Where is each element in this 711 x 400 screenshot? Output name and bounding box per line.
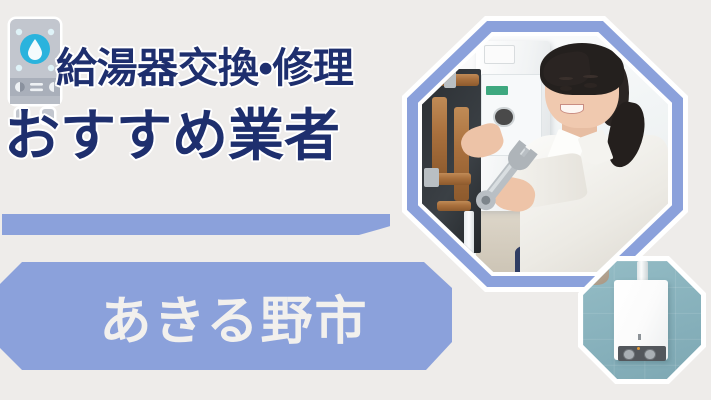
technician-photo-frame (402, 16, 688, 292)
product-photo (583, 261, 701, 379)
product-photo-frame (578, 256, 706, 384)
technician-photo (422, 36, 668, 272)
headline-highlight-bar (2, 214, 390, 235)
headline-line-2-wrapper: おすすめ業者 (2, 102, 422, 192)
city-badge-label: あきる野市 (80, 279, 369, 354)
headline-line-1: 給湯器交換•修理 (56, 42, 353, 94)
city-badge: あきる野市 (0, 262, 452, 370)
headline-block: 給湯器交換•修理 おすすめ業者 (0, 36, 430, 206)
headline-line-2: おすすめ業者 (4, 102, 340, 170)
banner-root: 給湯器交換•修理 おすすめ業者 あきる野市 (0, 0, 711, 400)
